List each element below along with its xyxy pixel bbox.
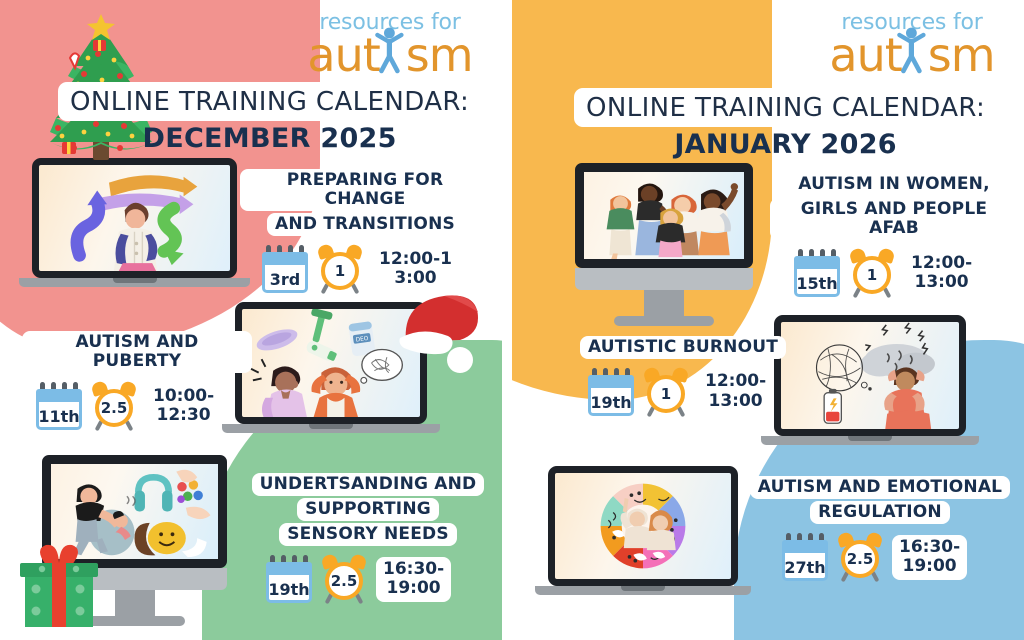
device-laptop-emotional-regulation	[548, 466, 751, 595]
event-title-line: GIRLS AND PEOPLE AFAB	[770, 198, 1018, 240]
event-duration: 2.5	[325, 562, 363, 600]
brand-logo: resources for autsm	[304, 12, 476, 78]
device-laptop-autistic-burnout	[774, 315, 979, 445]
event-time-line: 12:00-	[911, 253, 972, 273]
logo-word-before: aut	[829, 28, 901, 82]
event-meta: 15th 1 12:00- 13:00	[770, 248, 1018, 298]
event-preparing-for-change: PREPARING FOR CHANGE AND TRANSITIONS 3rd…	[240, 168, 490, 294]
illustration-group-of-women	[584, 172, 744, 259]
title-january: ONLINE TRAINING CALENDAR: JANUARY 2026	[574, 88, 997, 160]
event-title-line: AUTISM IN WOMEN,	[790, 173, 998, 196]
logo-wordmark: autsm	[304, 32, 476, 78]
event-time-line: 3:00	[394, 268, 436, 288]
panel-december: resources for autsm ONLINE TRAINING CALE…	[0, 0, 502, 640]
event-duration: 1	[321, 252, 359, 290]
event-time-line: 19:00	[903, 556, 957, 576]
title-december: ONLINE TRAINING CALENDAR: DECEMBER 2025	[58, 82, 481, 154]
event-meta: 19th 2.5 16:30- 19:00	[248, 554, 488, 604]
event-day: 19th	[588, 388, 634, 416]
gift-box-icon	[14, 535, 104, 630]
event-day: 15th	[794, 269, 840, 297]
santa-hat-icon	[392, 288, 482, 373]
event-time-line: 13:00	[915, 272, 969, 292]
monitor-neck	[115, 590, 155, 616]
event-time-line: 12:00-1	[379, 249, 452, 269]
alarm-clock-icon: 2.5	[320, 554, 368, 604]
calendar-icon: 15th	[794, 249, 840, 297]
autism-person-icon	[896, 26, 926, 79]
event-title-line: SUPPORTING	[297, 498, 439, 521]
alarm-clock-icon: 2.5	[90, 381, 138, 431]
logo-word-before: aut	[307, 28, 379, 82]
event-time-line: 19:00	[387, 578, 441, 598]
event-title: AUTISM IN WOMEN, GIRLS AND PEOPLE AFAB	[770, 172, 1018, 241]
monitor-foot	[614, 316, 714, 326]
brand-logo: resources for autsm	[826, 12, 998, 78]
alarm-clock-icon: 1	[316, 244, 364, 294]
monitor-chin	[575, 268, 753, 290]
event-day: 11th	[36, 402, 82, 430]
alarm-clock-icon: 1	[642, 367, 690, 417]
event-title: AUTISM AND EMOTIONAL REGULATION	[744, 475, 1016, 525]
illustration-person-under-storm-cloud	[781, 322, 959, 429]
monitor-neck	[644, 290, 684, 316]
event-meta: 3rd 1 12:00-1 3:00	[240, 244, 490, 294]
calendar-icon: 11th	[36, 382, 82, 430]
event-time: 16:30- 19:00	[892, 535, 967, 580]
event-time-line: 10:00-	[153, 386, 214, 406]
calendar-icon: 3rd	[262, 245, 308, 293]
title-line-2: JANUARY 2026	[574, 129, 997, 160]
event-time: 10:00- 12:30	[146, 384, 221, 429]
calendar-icon: 27th	[782, 533, 828, 581]
alarm-clock-icon: 1	[848, 248, 896, 298]
logo-word-after: sm	[928, 28, 995, 82]
event-meta: 27th 2.5 16:30- 19:00	[744, 532, 1016, 582]
event-day: 19th	[266, 575, 312, 603]
alarm-clock-icon: 2.5	[836, 532, 884, 582]
title-line-2: DECEMBER 2025	[58, 123, 481, 154]
event-time-line: 12:30	[157, 405, 211, 425]
logo-word-after: sm	[406, 28, 473, 82]
calendar-icon: 19th	[588, 368, 634, 416]
illustration-emotion-wheel	[555, 473, 731, 579]
event-day: 27th	[782, 553, 828, 581]
event-title-line: AUTISTIC BURNOUT	[580, 336, 786, 359]
panel-january: resources for autsm ONLINE TRAINING CALE…	[512, 0, 1024, 640]
event-title: UNDERTSANDING AND SUPPORTING SENSORY NEE…	[248, 472, 488, 547]
event-title: PREPARING FOR CHANGE AND TRANSITIONS	[240, 168, 490, 237]
event-autism-in-women: AUTISM IN WOMEN, GIRLS AND PEOPLE AFAB 1…	[770, 172, 1018, 298]
event-emotional-regulation: AUTISM AND EMOTIONAL REGULATION 27th 2.5…	[744, 475, 1016, 582]
device-laptop-preparing-for-change	[32, 158, 250, 287]
event-title-line: REGULATION	[810, 501, 950, 524]
calendar-icon: 19th	[266, 555, 312, 603]
autism-person-icon	[374, 26, 404, 79]
event-title: AUTISM AND PUBERTY	[22, 330, 252, 374]
event-time: 12:00- 13:00	[904, 251, 979, 296]
event-duration: 1	[647, 375, 685, 413]
event-time-line: 16:30-	[899, 537, 960, 557]
title-line-1: ONLINE TRAINING CALENDAR:	[58, 82, 481, 121]
event-title-line: SENSORY NEEDS	[279, 523, 457, 546]
event-title-line: AND TRANSITIONS	[267, 213, 463, 236]
event-duration: 2.5	[841, 540, 879, 578]
illustration-person-with-arrows	[39, 165, 230, 271]
event-autism-and-puberty: AUTISM AND PUBERTY 11th 2.5 10:00- 12:30	[22, 330, 252, 431]
logo-wordmark: autsm	[826, 32, 998, 78]
event-title-line: UNDERTSANDING AND	[252, 473, 485, 496]
event-time-line: 13:00	[709, 391, 763, 411]
event-time-line: 12:00-	[705, 371, 766, 391]
event-time: 12:00- 13:00	[698, 369, 773, 414]
event-time-line: 16:30-	[383, 559, 444, 579]
event-title-line: AUTISM AND EMOTIONAL	[750, 476, 1010, 499]
event-time: 16:30- 19:00	[376, 557, 451, 602]
training-calendar-poster: resources for autsm ONLINE TRAINING CALE…	[0, 0, 1024, 640]
event-title-line: AUTISM AND PUBERTY	[22, 331, 252, 373]
event-duration: 1	[853, 256, 891, 294]
event-sensory-needs: UNDERTSANDING AND SUPPORTING SENSORY NEE…	[248, 472, 488, 604]
event-duration: 2.5	[95, 389, 133, 427]
device-monitor-women-girls-afab	[575, 163, 753, 326]
event-meta: 19th 1 12:00- 13:00	[578, 367, 788, 417]
title-line-1: ONLINE TRAINING CALENDAR:	[574, 88, 997, 127]
event-title: AUTISTIC BURNOUT	[578, 335, 788, 360]
event-time: 12:00-1 3:00	[372, 247, 459, 292]
event-meta: 11th 2.5 10:00- 12:30	[22, 381, 252, 431]
event-day: 3rd	[262, 265, 308, 293]
event-title-line: PREPARING FOR CHANGE	[240, 169, 490, 211]
event-autistic-burnout: AUTISTIC BURNOUT 19th 1 12:00- 13:00	[578, 335, 788, 417]
